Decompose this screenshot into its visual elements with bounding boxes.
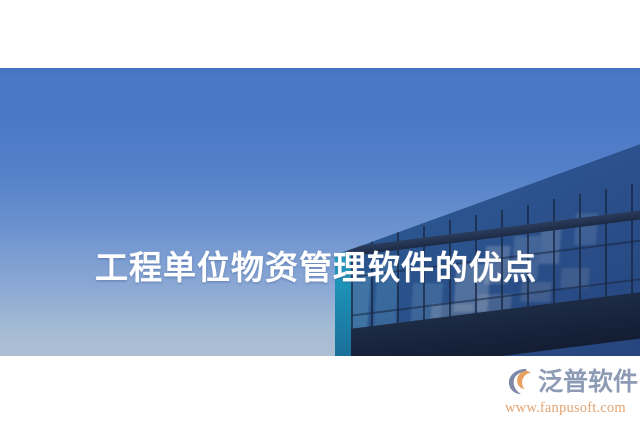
brand-logo-url: www.fanpusoft.com: [505, 399, 637, 417]
hero-banner: 工程单位物资管理软件的优点: [0, 68, 640, 356]
top-white-band: [0, 0, 640, 68]
brand-logo[interactable]: 泛普软件 www.fanpusoft.com: [505, 365, 637, 421]
brand-logo-row: 泛普软件: [505, 365, 637, 398]
fanpu-swoosh-icon: [505, 366, 536, 397]
brand-logo-name: 泛普软件: [538, 366, 638, 397]
page-title: 工程单位物资管理软件的优点: [95, 249, 537, 287]
page-root: 工程单位物资管理软件的优点 泛普软件 www.fanpusoft.com: [0, 0, 640, 427]
sky-top-seam: [0, 68, 640, 76]
